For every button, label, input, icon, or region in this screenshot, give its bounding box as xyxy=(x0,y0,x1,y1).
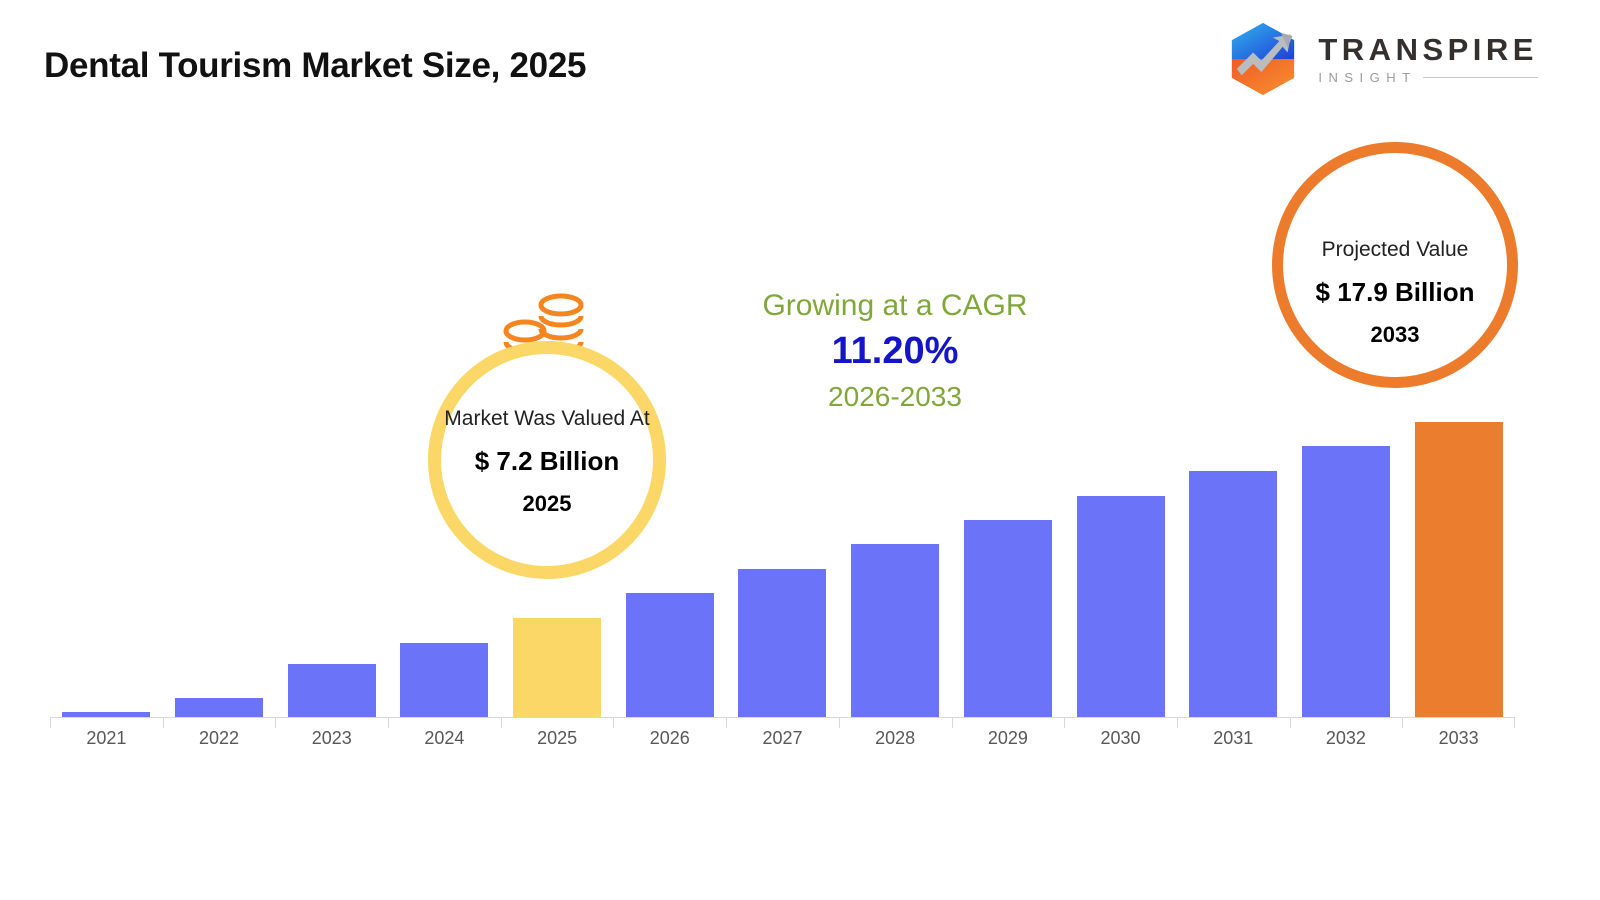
cagr-label: Growing at a CAGR xyxy=(745,288,1045,324)
callout-left-value: $ 7.2 Billion xyxy=(475,446,620,477)
bar-2026[interactable] xyxy=(626,593,714,717)
callout-projected-value: Projected Value $ 17.9 Billion 2033 xyxy=(1272,142,1518,388)
bar-2023[interactable] xyxy=(288,664,376,717)
x-axis-label-2031: 2031 xyxy=(1177,728,1290,749)
x-axis-label-2026: 2026 xyxy=(613,728,726,749)
bar-2024[interactable] xyxy=(400,643,488,717)
bar-2030[interactable] xyxy=(1077,496,1165,717)
bar-slot xyxy=(1064,120,1177,717)
brand-logo: TRANSPIRE INSIGHT xyxy=(1222,18,1538,100)
page-title: Dental Tourism Market Size, 2025 xyxy=(44,46,586,86)
x-axis-label-2029: 2029 xyxy=(952,728,1065,749)
brand-name: TRANSPIRE xyxy=(1318,34,1538,67)
callout-right-caption: Projected Value xyxy=(1322,234,1469,266)
x-axis-label-2023: 2023 xyxy=(275,728,388,749)
callout-market-value: Market Was Valued At $ 7.2 Billion 2025 xyxy=(428,341,666,579)
cagr-range: 2026-2033 xyxy=(745,380,1045,414)
x-axis-labels: 2021202220232024202520262027202820292030… xyxy=(50,728,1515,749)
callout-right-year: 2033 xyxy=(1371,322,1420,348)
x-axis-label-2021: 2021 xyxy=(50,728,163,749)
bar-slot xyxy=(839,120,952,717)
callout-left-caption: Market Was Valued At xyxy=(444,403,649,435)
bar-2022[interactable] xyxy=(175,698,263,717)
brand-divider xyxy=(1423,77,1538,78)
bar-2033[interactable] xyxy=(1415,422,1503,717)
cagr-block: Growing at a CAGR 11.20% 2026-2033 xyxy=(745,288,1045,413)
bar-2028[interactable] xyxy=(851,544,939,717)
bar-slot xyxy=(50,120,163,717)
bar-slot xyxy=(275,120,388,717)
bar-2029[interactable] xyxy=(964,520,1052,717)
bar-slot xyxy=(726,120,839,717)
x-axis-label-2024: 2024 xyxy=(388,728,501,749)
x-axis-label-2032: 2032 xyxy=(1290,728,1403,749)
bar-slot xyxy=(952,120,1065,717)
x-axis-label-2028: 2028 xyxy=(839,728,952,749)
x-axis-label-2030: 2030 xyxy=(1064,728,1177,749)
brand-sub-row: INSIGHT xyxy=(1318,71,1538,84)
callout-right-value: $ 17.9 Billion xyxy=(1316,277,1475,308)
cagr-value: 11.20% xyxy=(745,328,1045,376)
x-axis-label-2027: 2027 xyxy=(726,728,839,749)
brand-subtitle: INSIGHT xyxy=(1318,71,1416,84)
bar-2032[interactable] xyxy=(1302,446,1390,717)
hexagon-arrow-logo-icon xyxy=(1222,18,1304,100)
bar-slot xyxy=(163,120,276,717)
x-axis-label-2025: 2025 xyxy=(501,728,614,749)
chart-infographic-page: Dental Tourism Market Size, 2025 TRANSPI… xyxy=(0,0,1600,900)
bar-2031[interactable] xyxy=(1189,471,1277,717)
x-axis-label-2022: 2022 xyxy=(163,728,276,749)
callout-left-year: 2025 xyxy=(523,491,572,517)
bar-2027[interactable] xyxy=(738,569,826,717)
bar-2025[interactable] xyxy=(513,618,601,717)
bar-slot xyxy=(1177,120,1290,717)
brand-wordmark: TRANSPIRE INSIGHT xyxy=(1318,34,1538,84)
x-axis-label-2033: 2033 xyxy=(1402,728,1515,749)
